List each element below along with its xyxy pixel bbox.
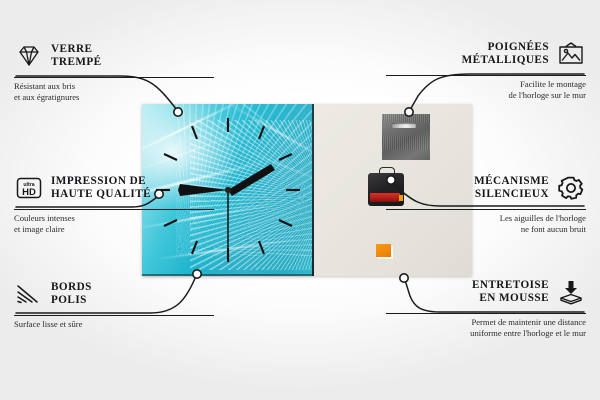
picture-hanger-icon — [556, 39, 586, 69]
feature-impression-haute-qualite[interactable]: ultra HD IMPRESSION DE HAUTE QUALITÉ Cou… — [14, 168, 214, 234]
gear-icon — [556, 173, 586, 203]
feature-subtitle: Facilite le montage de l'horloge sur le … — [386, 79, 586, 100]
feature-entretoise-en-mousse[interactable]: ENTRETOISE EN MOUSSE Permet de maintenir… — [386, 272, 586, 338]
feature-title: ENTRETOISE EN MOUSSE — [472, 279, 549, 306]
feature-subtitle: Surface lisse et sûre — [14, 319, 214, 330]
feature-divider — [14, 315, 214, 316]
feature-divider — [386, 313, 586, 314]
minute-hand — [228, 164, 275, 196]
feature-title: IMPRESSION DE HAUTE QUALITÉ — [51, 175, 151, 202]
feature-subtitle: Permet de maintenir une distance uniform… — [386, 317, 586, 338]
foam-spacer — [376, 244, 391, 257]
metal-hanger-plate — [382, 114, 430, 160]
clock-center-cap — [225, 187, 231, 193]
feature-verre-trempe[interactable]: VERRE TREMPÉ Résistant aux bris et aux é… — [14, 36, 214, 102]
product-infographic: VERRE TREMPÉ Résistant aux bris et aux é… — [0, 0, 600, 400]
diamond-icon — [14, 41, 44, 71]
hanger-slot — [392, 123, 416, 128]
feature-subtitle: Les aiguilles de l'horloge ne font aucun… — [386, 213, 586, 234]
feature-divider — [14, 77, 214, 78]
feature-poignees-metalliques[interactable]: POIGNÉES MÉTALLIQUES Facilite le montage… — [386, 34, 586, 100]
feature-divider — [386, 209, 586, 210]
ultra-hd-icon: ultra HD — [14, 173, 44, 203]
feature-title: POIGNÉES MÉTALLIQUES — [462, 41, 549, 68]
feature-divider — [386, 75, 586, 76]
foam-spacer-icon — [556, 277, 586, 307]
feature-title: MÉCANISME SILENCIEUX — [474, 175, 549, 202]
feature-title: VERRE TREMPÉ — [51, 43, 102, 70]
feature-divider — [14, 209, 214, 210]
feature-mecanisme-silencieux[interactable]: MÉCANISME SILENCIEUX Les aiguilles de l'… — [386, 168, 586, 234]
feature-bords-polis[interactable]: BORDS POLIS Surface lisse et sûre — [14, 274, 214, 330]
feature-subtitle: Résistant aux bris et aux égratignures — [14, 81, 214, 102]
polished-edges-icon — [14, 279, 44, 309]
feature-subtitle: Couleurs intenses et image claire — [14, 213, 214, 234]
svg-text:HD: HD — [22, 187, 36, 198]
feature-title: BORDS POLIS — [51, 281, 92, 308]
